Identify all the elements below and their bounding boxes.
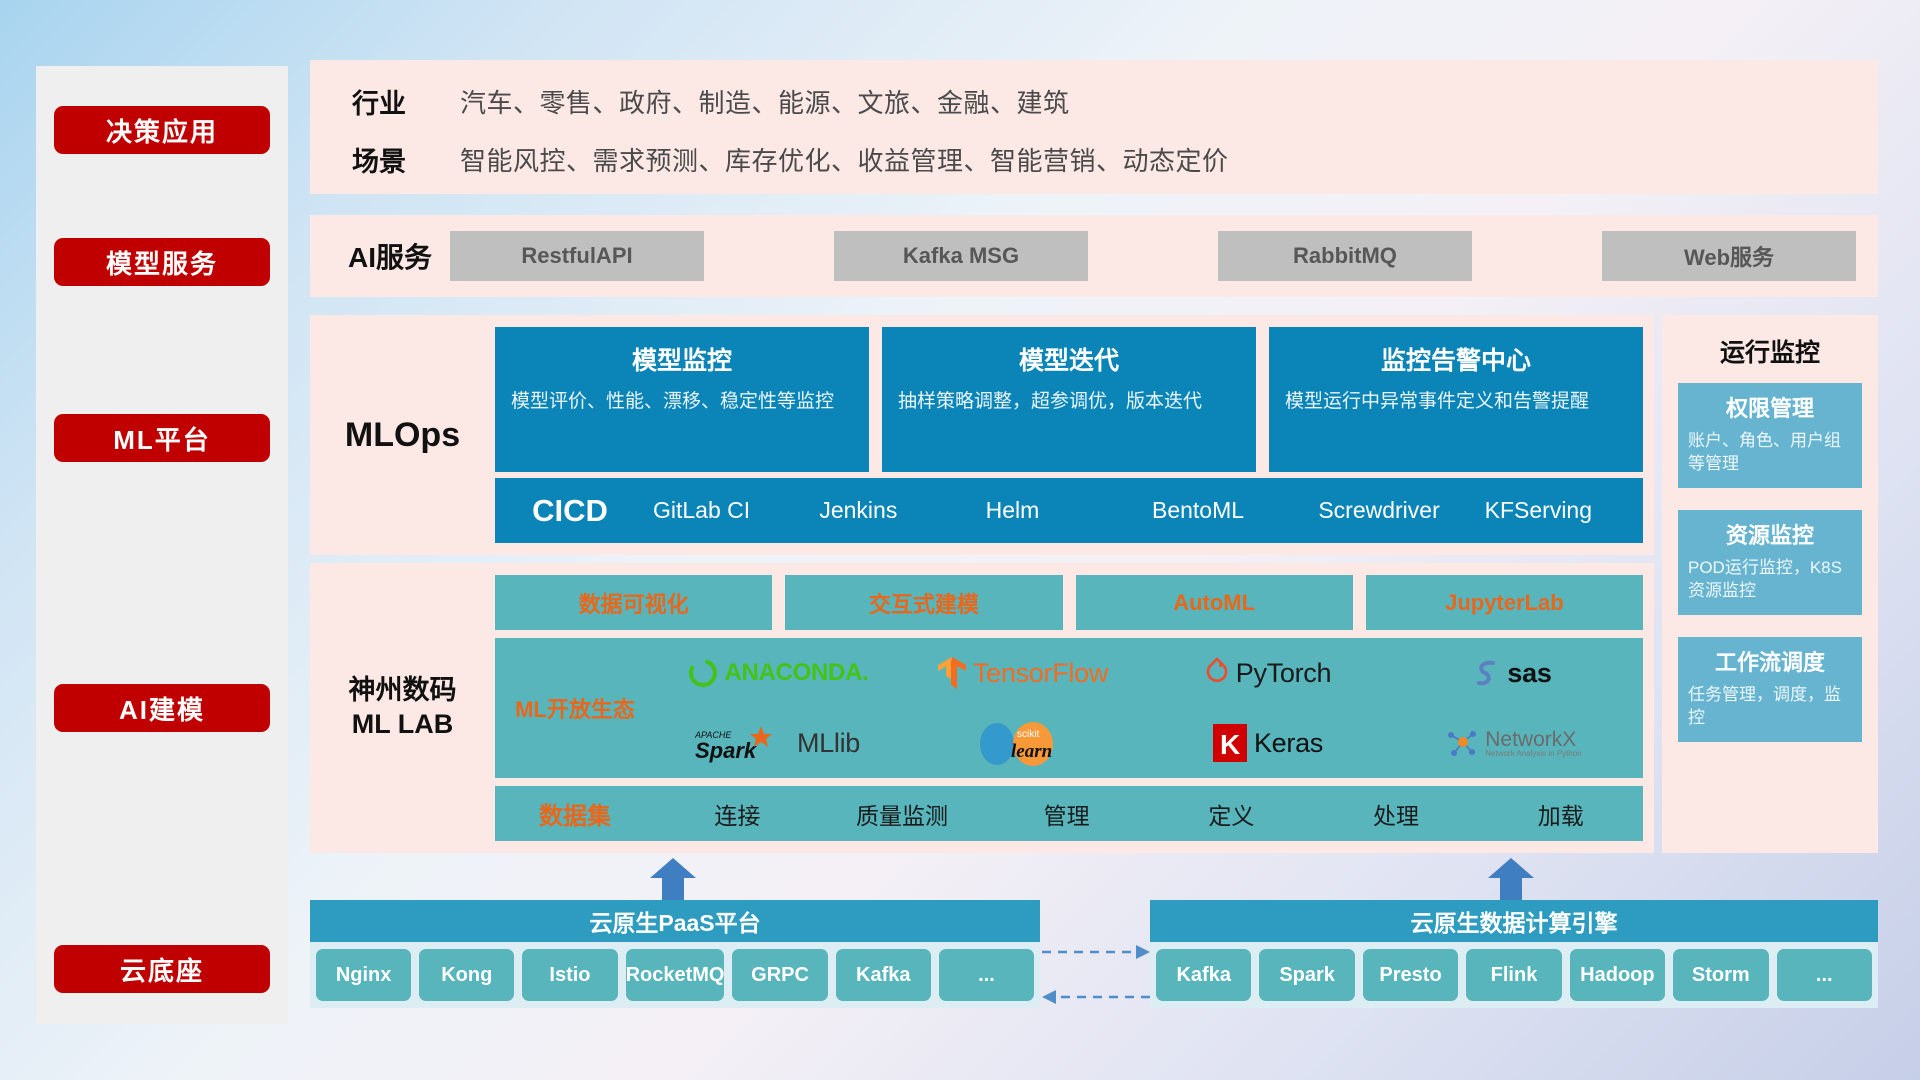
cicd-item-screwdriver[interactable]: Screwdriver xyxy=(1310,497,1476,523)
networkx-graph-icon xyxy=(1443,725,1479,761)
tensorflow-mark-icon xyxy=(937,656,967,690)
chip-kafka[interactable]: Kafka xyxy=(836,949,931,1001)
rail-item-label: 决策应用 xyxy=(106,112,218,149)
rail-item-ai-modeling[interactable]: AI建模 xyxy=(54,684,270,732)
svg-text:learn: learn xyxy=(1011,741,1052,762)
ai-service-button-kafka-msg[interactable]: Kafka MSG xyxy=(834,231,1088,281)
ml-lab-band: 神州数码 ML LAB 数据可视化 交互式建模 AutoML JupyterLa… xyxy=(310,563,1654,853)
spark-mllib-logo: APACHE Spark MLlib xyxy=(695,722,860,764)
cicd-item-gitlab-ci[interactable]: GitLab CI xyxy=(645,497,811,523)
scikit-learn-logo: scikit learn xyxy=(975,719,1071,767)
chip-presto[interactable]: Presto xyxy=(1363,949,1458,1001)
card-desc: 抽样策略调整，超参调优，版本迭代 xyxy=(898,389,1240,416)
chip-rocketmq[interactable]: RocketMQ xyxy=(626,949,725,1001)
dataset-item-connect[interactable]: 连接 xyxy=(655,797,820,831)
chip-storm[interactable]: Storm xyxy=(1673,949,1768,1001)
dataset-item-quality-check[interactable]: 质量监测 xyxy=(820,797,985,831)
card-title: 模型迭代 xyxy=(898,341,1240,377)
rail-item-decision-apps[interactable]: 决策应用 xyxy=(54,106,270,154)
button-label: Kafka MSG xyxy=(903,243,1019,269)
rail-item-label: ML平台 xyxy=(113,420,211,457)
svg-text:Spark: Spark xyxy=(695,738,758,763)
chip-spark[interactable]: Spark xyxy=(1259,949,1354,1001)
dataset-item-manage[interactable]: 管理 xyxy=(984,797,1149,831)
tool-automl[interactable]: AutoML xyxy=(1076,575,1353,630)
apache-spark-mark-icon: APACHE Spark xyxy=(695,722,791,764)
mlops-label: MLOps xyxy=(310,315,495,555)
cicd-item-bentoml[interactable]: BentoML xyxy=(1144,497,1310,523)
card-title: 模型监控 xyxy=(511,341,853,377)
rail-item-ml-platform[interactable]: ML平台 xyxy=(54,414,270,462)
cicd-item-kfserving[interactable]: KFServing xyxy=(1477,497,1643,523)
logo-label: PyTorch xyxy=(1236,658,1331,689)
up-arrow-paas-icon xyxy=(650,858,696,902)
sas-logo: sas xyxy=(1473,658,1551,689)
tool-jupyterlab[interactable]: JupyterLab xyxy=(1366,575,1643,630)
card-desc: 模型运行中异常事件定义和告警提醒 xyxy=(1285,389,1627,416)
tool-interactive-modeling[interactable]: 交互式建模 xyxy=(785,575,1062,630)
card-title: 资源监控 xyxy=(1688,518,1852,550)
tensorflow-logo: TensorFlow xyxy=(937,656,1108,690)
bidirectional-dashed-connector xyxy=(1040,942,1152,1008)
chip-istio[interactable]: Istio xyxy=(522,949,617,1001)
card-desc: 账户、角色、用户组等管理 xyxy=(1688,429,1852,476)
layer-rail: 决策应用 模型服务 ML平台 AI建模 云底座 xyxy=(36,66,288,1024)
logo-label: NetworkX xyxy=(1485,729,1582,750)
anaconda-mark-icon xyxy=(687,657,719,689)
cloud-native-paas-group: 云原生PaaS平台 Nginx Kong Istio RocketMQ GRPC… xyxy=(310,900,1040,1008)
svg-text:scikit: scikit xyxy=(1017,729,1039,740)
chip-more[interactable]: ... xyxy=(1777,949,1872,1001)
rail-item-label: 云底座 xyxy=(120,951,204,988)
chip-grpc[interactable]: GRPC xyxy=(732,949,827,1001)
chip-kafka[interactable]: Kafka xyxy=(1156,949,1251,1001)
svg-text:K: K xyxy=(1220,729,1240,760)
dataset-item-define[interactable]: 定义 xyxy=(1149,797,1314,831)
monitor-card-resource-monitoring[interactable]: 资源监控 POD运行监控，K8S资源监控 xyxy=(1678,510,1862,615)
networkx-tagline: Network Analysis in Python xyxy=(1485,750,1582,758)
ml-open-ecosystem-label: ML开放生态 xyxy=(495,692,655,724)
monitor-card-permission-management[interactable]: 权限管理 账户、角色、用户组等管理 xyxy=(1678,383,1862,488)
button-label: Web服务 xyxy=(1684,240,1774,272)
cicd-item-helm[interactable]: Helm xyxy=(978,497,1144,523)
cloud-data-engine-header: 云原生数据计算引擎 xyxy=(1150,900,1878,942)
ml-lab-label: 神州数码 ML LAB xyxy=(310,563,495,853)
cicd-item-jenkins[interactable]: Jenkins xyxy=(811,497,977,523)
mlops-card-alert-center[interactable]: 监控告警中心 模型运行中异常事件定义和告警提醒 xyxy=(1269,327,1643,472)
ml-open-ecosystem-bar: ML开放生态 ANACONDA. TensorFlow xyxy=(495,638,1643,778)
card-title: 权限管理 xyxy=(1688,391,1852,423)
chip-hadoop[interactable]: Hadoop xyxy=(1570,949,1665,1001)
chip-more[interactable]: ... xyxy=(939,949,1034,1001)
rail-item-label: 模型服务 xyxy=(106,244,218,281)
dataset-item-process[interactable]: 处理 xyxy=(1314,797,1479,831)
rail-item-model-service[interactable]: 模型服务 xyxy=(54,238,270,286)
pytorch-flame-icon xyxy=(1204,657,1230,689)
networkx-logo: NetworkX Network Analysis in Python xyxy=(1443,725,1582,761)
cloud-data-engine-chip-group: Kafka Spark Presto Flink Hadoop Storm ..… xyxy=(1150,942,1878,1008)
card-title: 监控告警中心 xyxy=(1285,341,1627,377)
ai-service-button-group: RestfulAPI Kafka MSG RabbitMQ Web服务 xyxy=(450,231,1878,281)
ai-service-button-web-service[interactable]: Web服务 xyxy=(1602,231,1856,281)
ml-lab-tool-group: 数据可视化 交互式建模 AutoML JupyterLab xyxy=(495,575,1643,630)
cicd-title: CICD xyxy=(495,493,645,529)
rail-item-label: AI建模 xyxy=(119,690,205,727)
up-arrow-data-engine-icon xyxy=(1488,858,1534,902)
ai-service-button-restfulapi[interactable]: RestfulAPI xyxy=(450,231,704,281)
cloud-native-data-engine-group: 云原生数据计算引擎 Kafka Spark Presto Flink Hadoo… xyxy=(1150,900,1878,1008)
logo-label: TensorFlow xyxy=(973,658,1108,689)
logo-label: sas xyxy=(1507,658,1551,689)
scenario-label: 场景 xyxy=(310,140,460,179)
runtime-monitoring-panel: 运行监控 权限管理 账户、角色、用户组等管理 资源监控 POD运行监控，K8S资… xyxy=(1662,315,1878,853)
rail-item-cloud-base[interactable]: 云底座 xyxy=(54,945,270,993)
scikit-learn-mark-icon: scikit learn xyxy=(975,719,1071,767)
industry-value: 汽车、零售、政府、制造、能源、文旅、金融、建筑 xyxy=(460,83,1070,120)
cicd-item-group: GitLab CI Jenkins Helm BentoML Screwdriv… xyxy=(645,497,1643,523)
ai-service-band: AI服务 RestfulAPI Kafka MSG RabbitMQ Web服务 xyxy=(310,215,1878,297)
decision-applications-band: 行业 汽车、零售、政府、制造、能源、文旅、金融、建筑 场景 智能风控、需求预测、… xyxy=(310,60,1878,194)
card-desc: 模型评价、性能、漂移、稳定性等监控 xyxy=(511,389,853,416)
keras-logo: K Keras xyxy=(1212,723,1323,763)
dataset-item-load[interactable]: 加载 xyxy=(1478,797,1643,831)
logo-label: ANACONDA. xyxy=(725,659,869,687)
chip-flink[interactable]: Flink xyxy=(1466,949,1561,1001)
cicd-bar: CICD GitLab CI Jenkins Helm BentoML Scre… xyxy=(495,478,1643,543)
chip-kong[interactable]: Kong xyxy=(419,949,514,1001)
sas-mark-icon xyxy=(1473,658,1501,688)
card-desc: POD运行监控，K8S资源监控 xyxy=(1688,556,1852,603)
chip-nginx[interactable]: Nginx xyxy=(316,949,411,1001)
card-title: 工作流调度 xyxy=(1688,645,1852,677)
anaconda-logo: ANACONDA. xyxy=(687,657,869,689)
dataset-title: 数据集 xyxy=(495,796,655,831)
ml-lab-label-line2: ML LAB xyxy=(352,708,454,742)
mlops-band: MLOps 模型监控 模型评价、性能、漂移、稳定性等监控 模型迭代 抽样策略调整… xyxy=(310,315,1654,555)
cloud-paas-header: 云原生PaaS平台 xyxy=(310,900,1040,942)
ai-service-label: AI服务 xyxy=(310,236,450,276)
ecosystem-logo-grid: ANACONDA. TensorFlow PyTorch xyxy=(655,638,1643,778)
tool-data-visualization[interactable]: 数据可视化 xyxy=(495,575,772,630)
mlops-card-group: 模型监控 模型评价、性能、漂移、稳定性等监控 模型迭代 抽样策略调整，超参调优，… xyxy=(495,327,1643,472)
keras-mark-icon: K xyxy=(1212,723,1248,763)
scenario-row: 场景 智能风控、需求预测、库存优化、收益管理、智能营销、动态定价 xyxy=(310,140,1878,179)
cloud-paas-chip-group: Nginx Kong Istio RocketMQ GRPC Kafka ... xyxy=(310,942,1040,1008)
mlops-card-model-monitoring[interactable]: 模型监控 模型评价、性能、漂移、稳定性等监控 xyxy=(495,327,869,472)
mlops-card-model-iteration[interactable]: 模型迭代 抽样策略调整，超参调优，版本迭代 xyxy=(882,327,1256,472)
logo-label: MLlib xyxy=(797,728,860,759)
industry-label: 行业 xyxy=(310,82,460,121)
monitor-card-workflow-scheduling[interactable]: 工作流调度 任务管理，调度，监控 xyxy=(1678,637,1862,742)
ml-lab-label-line1: 神州数码 xyxy=(349,674,457,708)
dataset-item-group: 连接 质量监测 管理 定义 处理 加载 xyxy=(655,797,1643,831)
logo-label: Keras xyxy=(1254,728,1323,759)
dataset-bar: 数据集 连接 质量监测 管理 定义 处理 加载 xyxy=(495,786,1643,841)
button-label: RestfulAPI xyxy=(521,243,632,269)
ai-service-button-rabbitmq[interactable]: RabbitMQ xyxy=(1218,231,1472,281)
industry-row: 行业 汽车、零售、政府、制造、能源、文旅、金融、建筑 xyxy=(310,82,1878,121)
card-desc: 任务管理，调度，监控 xyxy=(1688,683,1852,730)
scenario-value: 智能风控、需求预测、库存优化、收益管理、智能营销、动态定价 xyxy=(460,141,1229,178)
button-label: RabbitMQ xyxy=(1293,243,1397,269)
runtime-monitoring-title: 运行监控 xyxy=(1662,315,1878,383)
pytorch-logo: PyTorch xyxy=(1204,657,1331,689)
